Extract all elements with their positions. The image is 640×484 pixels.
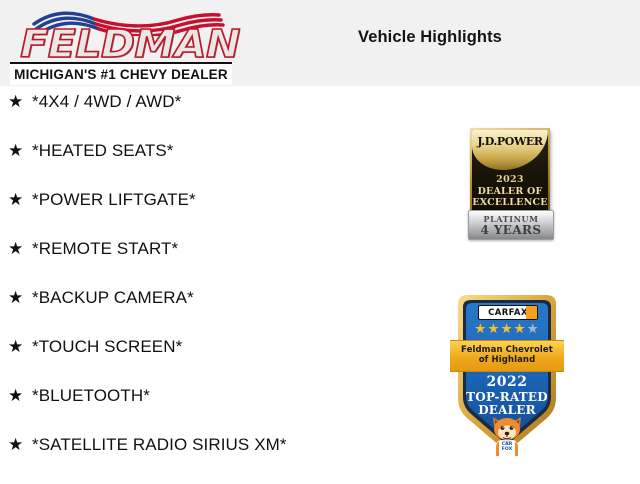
- star-icon: ★: [500, 321, 513, 336]
- feature-label: *TOUCH SCREEN*: [32, 337, 182, 357]
- car-fox-shirt-text: CAR FOX: [486, 442, 528, 452]
- jd-power-award-badge: J.D.POWER 2023 DEALER OF EXCELLENCE PLAT…: [468, 128, 552, 238]
- carfax-award-line-1: TOP-RATED: [448, 390, 566, 404]
- feature-label: *HEATED SEATS*: [32, 141, 174, 161]
- list-item: ★ *SATELLITE RADIO SIRIUS XM*: [8, 435, 408, 484]
- page-title: Vehicle Highlights: [260, 28, 600, 47]
- star-icon: ★: [527, 321, 540, 336]
- feldman-dealer-logo: FELDMAN MICHIGAN'S #1 CHEVY DEALER: [8, 4, 234, 82]
- jd-power-award-line-2: EXCELLENCE: [472, 197, 548, 208]
- star-bullet-icon: ★: [8, 239, 32, 259]
- carfax-award-line-2: DEALER: [448, 403, 566, 417]
- carfax-dealer-name-line-2: of Highland: [450, 355, 564, 365]
- jd-power-duration: 4 YEARS: [469, 223, 553, 237]
- list-item: ★ *REMOTE START*: [8, 239, 408, 288]
- star-bullet-icon: ★: [8, 337, 32, 357]
- feldman-wordmark-text: FELDMAN: [8, 24, 252, 64]
- jd-power-base-plate: PLATINUM 4 YEARS: [468, 210, 554, 240]
- feature-label: *SATELLITE RADIO SIRIUS XM*: [32, 435, 287, 455]
- star-bullet-icon: ★: [8, 288, 32, 308]
- carfax-logo: CARFAX: [478, 305, 538, 320]
- carfax-logo-orange-tab: [526, 306, 537, 319]
- feldman-wordmark: FELDMAN: [8, 24, 234, 64]
- star-bullet-icon: ★: [8, 386, 32, 406]
- list-item: ★ *HEATED SEATS*: [8, 141, 408, 190]
- star-bullet-icon: ★: [8, 435, 32, 455]
- dealer-tagline-text: MICHIGAN'S #1 CHEVY DEALER: [14, 67, 228, 82]
- car-fox-shirt-line-2: FOX: [502, 447, 512, 452]
- carfax-top-rated-dealer-badge: CARFAX ★★★★★ Feldman Chevrolet of Highla…: [448, 290, 566, 458]
- list-item: ★ *TOUCH SCREEN*: [8, 337, 408, 386]
- vehicle-highlights-page: FELDMAN MICHIGAN'S #1 CHEVY DEALER Vehic…: [0, 0, 640, 480]
- star-bullet-icon: ★: [8, 141, 32, 161]
- carfax-logo-text: CARFAX: [488, 308, 528, 318]
- jd-power-year: 2023: [472, 174, 548, 185]
- list-item: ★ *BLUETOOTH*: [8, 386, 408, 435]
- carfax-dealer-name-ribbon: Feldman Chevrolet of Highland: [450, 340, 564, 372]
- carfax-award-year: 2022: [448, 374, 566, 390]
- carfax-dealer-name-line-1: Feldman Chevrolet: [450, 345, 564, 355]
- car-fox-mascot-icon: CAR FOX: [486, 416, 528, 456]
- feature-label: *BLUETOOTH*: [32, 386, 150, 406]
- feature-label: *REMOTE START*: [32, 239, 178, 259]
- list-item: ★ *BACKUP CAMERA*: [8, 288, 408, 337]
- list-item: ★ *POWER LIFTGATE*: [8, 190, 408, 239]
- list-item: ★ *4X4 / 4WD / AWD*: [8, 92, 408, 141]
- feature-label: *4X4 / 4WD / AWD*: [32, 92, 181, 112]
- vehicle-features-list: ★ *4X4 / 4WD / AWD* ★ *HEATED SEATS* ★ *…: [8, 92, 408, 484]
- star-bullet-icon: ★: [8, 190, 32, 210]
- jd-power-award-line-1: DEALER OF: [472, 186, 548, 197]
- jd-power-brand-text: J.D.POWER: [472, 135, 548, 148]
- carfax-star-rating: ★★★★★: [448, 321, 566, 336]
- star-icon: ★: [514, 321, 527, 336]
- feature-label: *POWER LIFTGATE*: [32, 190, 196, 210]
- jd-power-plaque: J.D.POWER 2023 DEALER OF EXCELLENCE: [470, 128, 550, 220]
- feature-label: *BACKUP CAMERA*: [32, 288, 194, 308]
- star-icon: ★: [487, 321, 500, 336]
- dealer-tagline-bar: MICHIGAN'S #1 CHEVY DEALER: [10, 62, 232, 85]
- star-bullet-icon: ★: [8, 92, 32, 112]
- star-icon: ★: [474, 321, 487, 336]
